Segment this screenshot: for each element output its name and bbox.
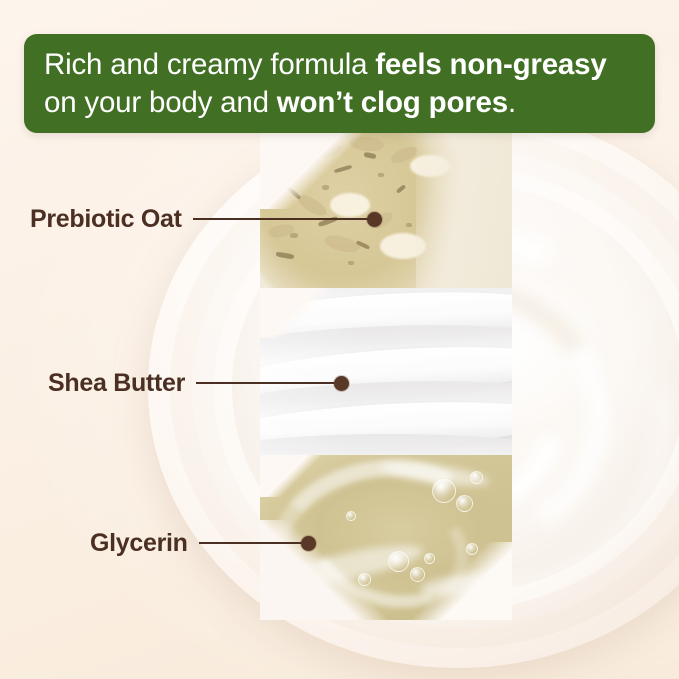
marker-dot-glycerin (301, 536, 316, 551)
callout-glycerin: Glycerin (90, 530, 316, 556)
callout-label-shea-butter: Shea Butter (48, 369, 185, 398)
headline-line-1-plain: Rich and creamy formula (44, 48, 375, 81)
leader-line-prebiotic-oat (193, 218, 369, 220)
callout-shea-butter: Shea Butter (48, 370, 349, 396)
headline-line-2-tail: . (508, 86, 516, 119)
oat-smooth-area (416, 133, 512, 288)
glycerin-corner-mask-tl (260, 455, 334, 497)
headline-line-1: Rich and creamy formula feels non-greasy (44, 46, 635, 83)
headline-line-1-bold: feels non-greasy (375, 48, 606, 81)
oat-corner-mask (260, 133, 374, 209)
callout-prebiotic-oat: Prebiotic Oat (30, 206, 382, 232)
leader-line-shea-butter (196, 382, 336, 384)
headline-line-2: on your body and won’t clog pores. (44, 84, 635, 121)
shea-corner-mask (260, 288, 344, 338)
callout-label-prebiotic-oat: Prebiotic Oat (30, 205, 182, 234)
callout-label-glycerin: Glycerin (90, 529, 188, 558)
headline-line-2-plain: on your body and (44, 86, 277, 119)
glycerin-corner-mask-br (382, 542, 512, 620)
marker-dot-shea-butter (334, 376, 349, 391)
marker-dot-prebiotic-oat (367, 212, 382, 227)
infographic-canvas: Rich and creamy formula feels non-greasy… (0, 0, 679, 679)
headline-line-2-bold: won’t clog pores (277, 86, 508, 119)
leader-line-glycerin (199, 542, 303, 544)
headline-banner: Rich and creamy formula feels non-greasy… (24, 34, 655, 133)
